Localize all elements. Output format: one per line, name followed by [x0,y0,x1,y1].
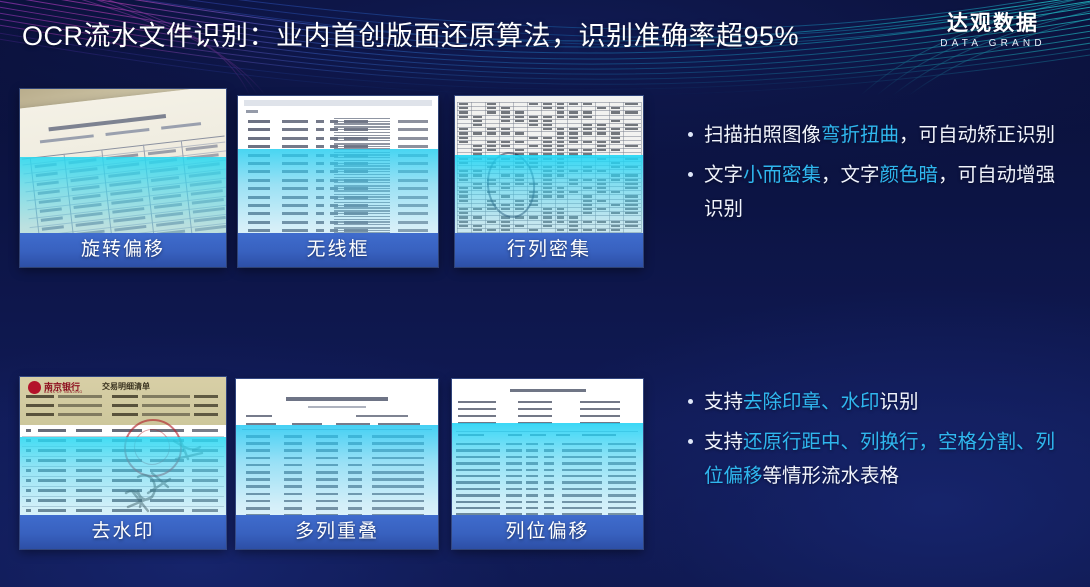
doc-text-line [459,141,468,143]
doc-text-line [506,443,522,445]
doc-text-line [316,187,324,190]
doc-text-line [544,494,554,496]
doc-text-line [611,204,620,206]
doc-text-line [569,225,578,227]
doc-text-line [316,170,324,173]
doc-grid-line [581,102,582,246]
doc-text-line [562,462,602,464]
doc-text-line [506,488,522,490]
doc-text-line [506,507,522,509]
doc-text-line [608,494,636,496]
card-caption: 无线框 [238,233,438,267]
doc-text-line [597,179,606,181]
doc-text-line [569,183,578,185]
doc-grid-line [471,102,472,246]
doc-text-line [336,423,370,425]
doc-text-line [583,166,592,168]
doc-text-line [473,132,482,134]
doc-text-line [334,230,390,231]
doc-text-line [58,395,102,398]
doc-text-line [334,196,390,197]
doc-text-line [456,501,500,503]
doc-text-line [246,442,270,445]
doc-text-line [76,479,102,482]
doc-text-line [526,449,538,451]
doc-text-line [506,481,522,483]
doc-text-line [398,120,428,123]
doc-text-line [248,162,270,165]
doc-text-line [334,227,390,228]
doc-text-line [583,195,592,197]
doc-text-line [625,204,638,206]
doc-text-line [557,149,564,151]
doc-text-line [473,174,482,176]
doc-text-line [246,435,270,438]
doc-text-line [580,408,620,410]
doc-text-line [334,143,390,144]
doc-text-line [282,120,308,123]
doc-text-line [611,225,620,227]
doc-text-line [473,229,482,231]
doc-text-line [501,128,510,130]
doc-text-line [459,179,468,181]
doc-text-line [583,170,592,172]
doc-text-line [334,190,390,191]
bullet-group-top: 扫描拍照图像弯折扭曲，可自动矫正识别 文字小而密集，文字颜色暗，可自动增强识别 [684,118,1070,232]
doc-text-line [242,429,432,430]
doc-text-line [459,191,468,193]
doc-text-line [282,204,308,207]
doc-text-line [608,443,636,445]
doc-text-line [625,103,638,105]
doc-text-line [248,145,270,148]
doc-text-line [515,111,524,113]
doc-text-line [26,429,31,432]
doc-text-line [248,128,270,131]
doc-text-line [611,221,620,223]
doc-text-line [526,488,538,490]
doc-text-line [597,149,606,151]
card-caption: 去水印 [20,515,226,549]
doc-text-line [26,469,31,472]
doc-text-line [557,141,564,143]
doc-text-line [348,493,362,496]
doc-text-line [473,225,482,227]
doc-text-line [597,191,606,193]
doc-text-line [284,500,302,503]
doc-text-line [487,229,496,231]
doc-text-line [501,225,510,227]
doc-text-line [597,132,606,134]
doc-text-line [543,149,552,151]
doc-text-line [518,415,552,417]
doc-text-line [625,187,638,189]
doc-text-line [557,158,564,160]
doc-text-line [608,469,636,471]
doc-text-line [76,439,102,442]
doc-text-line [611,149,620,151]
doc-text-line [316,196,324,199]
doc-text-line [515,120,524,122]
doc-text-line [583,149,592,151]
doc-text-line [112,395,138,398]
doc-text-line [557,162,564,164]
doc-text-line [334,121,390,122]
doc-text-line [334,171,390,172]
doc-text-line [557,116,564,118]
doc-text-line [246,500,270,503]
doc-text-line [543,124,552,126]
bullet-text: 支持还原行距中、列换行，空格分割、列位偏移等情形流水表格 [704,425,1074,493]
slide-root: OCR流水文件识别：业内首创版面还原算法，识别准确率超95% 达观数据 DATA… [0,0,1090,587]
doc-grid-line [641,102,642,246]
doc-text-line [459,132,468,134]
doc-text-line [398,196,428,199]
doc-text-line [26,499,31,502]
doc-text-line [398,229,428,232]
doc-text-line [526,443,538,445]
doc-text-line [543,225,552,227]
doc-text-line [248,154,270,157]
doc-grid-line [485,102,486,246]
doc-text-line [543,216,552,218]
doc-text-line [76,429,102,432]
doc-text-line [459,158,468,160]
doc-text-line [334,221,390,222]
doc-text-line [501,221,510,223]
doc-text-line [398,212,428,215]
doc-text-line [543,120,552,122]
doc-text-line [557,111,564,113]
doc-text-line [284,478,302,481]
doc-text-line [501,229,510,231]
doc-text-line [487,221,496,223]
doc-text-line [316,137,324,140]
doc-text-line [557,208,564,210]
doc-text-line [334,202,390,203]
doc-text-line [506,494,522,496]
doc-text-line [583,204,592,206]
doc-text-line [543,153,552,155]
doc-text-line [316,507,338,510]
doc-text-line [557,132,564,134]
doc-text-line [557,128,564,130]
doc-text-line [334,135,390,136]
doc-text-line [348,507,362,510]
doc-text-line [356,415,408,417]
doc-text-line [557,145,564,147]
doc-text-line [456,481,500,483]
doc-text-line [544,449,554,451]
doc-text-line [334,140,390,141]
bullet-plain: ，可自动矫正识别 [899,124,1055,146]
doc-text-line [473,116,482,118]
doc-text-line [611,229,620,231]
doc-text-line [192,429,218,432]
doc-text-line [282,128,308,131]
doc-text-line [246,464,270,467]
doc-text-line [248,212,270,215]
doc-text-line [543,183,552,185]
doc-text-line [334,216,390,217]
doc-text-line [569,103,578,105]
doc-text-line [625,195,638,197]
doc-text-line [611,141,620,143]
doc-text-line [473,120,482,122]
doc-text-line [569,132,578,134]
doc-text-line [246,493,270,496]
doc-text-line [557,229,564,231]
doc-text-line [459,212,468,214]
doc-text-line [562,488,602,490]
doc-text-line [473,124,482,126]
doc-text-line [334,174,390,175]
doc-text-line [515,132,524,134]
bullet-text: 文字小而密集，文字颜色暗，可自动增强识别 [704,158,1070,226]
doc-text-line [625,166,638,168]
doc-text-line [456,462,500,464]
doc-text-line [194,395,218,398]
doc-text-line [26,395,54,398]
doc-text-line [316,449,338,452]
doc-text-line [248,170,270,173]
doc-text-line [557,103,564,105]
doc-text-line [334,154,390,155]
doc-text-line [569,128,578,130]
doc-text-line [459,103,468,105]
doc-text-line [501,145,510,147]
card-rotation-offset[interactable]: 旋转偏移 [20,89,226,267]
doc-text-line [284,442,302,445]
doc-text-line [529,116,538,118]
doc-text-line [597,208,606,210]
doc-text-line [282,145,308,148]
doc-text-line [608,456,636,458]
doc-text-line [515,116,524,118]
doc-text-line [248,196,270,199]
doc-text-line [38,489,66,492]
doc-text-line [246,415,272,417]
doc-text-line [473,153,482,155]
doc-text-line [583,187,592,189]
doc-text-line [582,434,616,436]
doc-text-line [459,137,468,139]
doc-text-line [246,478,270,481]
doc-text-line [625,145,638,147]
doc-text-line [334,177,390,178]
doc-text-line [372,485,424,488]
doc-text-line [501,132,510,134]
doc-text-line [515,225,524,227]
doc-text-line [506,462,522,464]
doc-text-line [372,464,424,467]
doc-text-line [334,168,390,169]
brand-logo: 达观数据 DATA GRAND [918,11,1068,51]
doc-text-line [334,129,390,130]
doc-text-line [562,475,602,477]
doc-text-line [611,162,620,164]
doc-text-line [112,404,138,407]
doc-text-line [282,179,308,182]
doc-grid-line [623,102,624,246]
doc-grid-line [567,102,568,246]
card-multi-column-overlap[interactable]: 多列重叠 [236,379,438,549]
bullet-group-bottom: 支持去除印章、水印识别 支持还原行距中、列换行，空格分割、列位偏移等情形流水表格 [684,385,1074,499]
doc-text-line [142,395,190,398]
doc-text-line [625,174,638,176]
bullet-plain: 识别 [880,391,919,413]
doc-text-line [334,213,390,214]
doc-text-line [487,132,496,134]
doc-text-line [334,148,390,149]
doc-text-line [625,158,638,160]
doc-text-line [473,183,482,185]
doc-text-line [38,449,66,452]
doc-text-line [38,479,66,482]
doc-text-line [26,439,31,442]
page-title: OCR流水文件识别：业内首创版面还原算法，识别准确率超95% [22,17,799,55]
doc-text-line [569,170,578,172]
doc-text-line [544,507,554,509]
doc-text-line [459,225,468,227]
doc-text-line [76,459,102,462]
doc-text-line [562,456,602,458]
card-remove-watermark[interactable]: 南京银行 BANK OF NANJING 交易明细清单 去水印 [20,377,226,549]
doc-text-line [518,422,552,424]
doc-text-line [76,499,102,502]
bullet-text: 支持去除印章、水印识别 [704,385,1074,419]
doc-text-line [543,158,552,160]
doc-text-line [398,187,428,190]
doc-text-line [284,449,302,452]
doc-text-line [562,443,602,445]
doc-text-line [348,500,362,503]
doc-grid-line [609,102,610,246]
doc-text-line [625,200,638,202]
doc-text-line [526,494,538,496]
card-column-shift[interactable]: 列位偏移 [452,379,643,549]
doc-text-line [557,216,564,218]
doc-text-line [38,439,66,442]
doc-text-line [562,494,602,496]
doc-text-line [456,475,500,477]
bullet-plain: 文字 [704,164,743,186]
doc-text-line [316,154,324,157]
doc-text-line [508,434,522,436]
doc-text-line [583,141,592,143]
doc-text-line [526,501,538,503]
doc-text-line [543,145,552,147]
doc-text-line [316,500,338,503]
card-caption: 旋转偏移 [20,233,226,267]
doc-text-line [506,456,522,458]
doc-text-line [608,488,636,490]
doc-text-line [597,170,606,172]
doc-text-line [543,170,552,172]
doc-text-line [557,107,564,109]
doc-text-line [372,442,424,445]
doc-text-line [625,111,638,113]
doc-text-line [282,196,308,199]
doc-text-line [334,160,390,161]
doc-text-line [334,205,390,206]
doc-text-line [487,103,496,105]
doc-text-line [316,485,338,488]
doc-grid-line [595,102,596,246]
doc-text-line [625,208,638,210]
doc-text-line [26,479,31,482]
doc-text-line [473,145,482,147]
doc-text-line [597,158,606,160]
doc-text-line [611,111,620,113]
doc-text-line [569,216,578,218]
doc-text-line [316,471,338,474]
doc-text-line [529,124,538,126]
doc-text-line [348,464,362,467]
doc-text-line [583,208,592,210]
doc-text-line [583,116,592,118]
doc-text-line [142,404,190,407]
doc-text-line [543,174,552,176]
doc-text-line [38,499,66,502]
doc-text-line [334,123,390,124]
doc-text-line [611,128,620,130]
doc-grid-line [541,102,542,246]
doc-text-line [282,162,308,165]
doc-text-line [284,493,302,496]
doc-text-line [583,200,592,202]
doc-text-line [583,212,592,214]
doc-text-line [501,116,510,118]
doc-text-line [530,434,546,436]
doc-text-line [76,469,102,472]
doc-text-line [398,145,428,148]
doc-text-line [569,137,578,139]
doc-text-line [557,166,564,168]
card-borderless[interactable]: 无线框 [238,96,438,267]
doc-text-line [608,481,636,483]
doc-text-line [459,111,468,113]
doc-text-line [459,162,468,164]
doc-text-line [526,507,538,509]
doc-text-line [246,471,270,474]
doc-text-line [608,501,636,503]
doc-text-line [334,182,390,183]
doc-text-line [529,103,538,105]
card-dense-grid[interactable]: 行列密集 [455,96,643,267]
doc-text-line [597,187,606,189]
doc-text-line [526,481,538,483]
bullet-highlight: 弯折扭曲 [821,124,899,146]
doc-text-line [246,449,270,452]
doc-text-line [543,103,552,105]
doc-text-line [569,179,578,181]
card-caption: 多列重叠 [236,515,438,549]
doc-text-line [58,404,102,407]
doc-text-line [316,145,324,148]
doc-text-line [611,137,620,139]
doc-text-line [458,401,496,403]
doc-text-line [26,509,31,512]
doc-text-line [543,212,552,214]
doc-text-line [529,137,538,139]
doc-text-line [597,124,606,126]
doc-text-line [459,174,468,176]
doc-text-line [348,485,362,488]
bullet-highlight: 去除印章、水印 [743,391,880,413]
doc-text-line [543,137,552,139]
doc-text-line [544,488,554,490]
